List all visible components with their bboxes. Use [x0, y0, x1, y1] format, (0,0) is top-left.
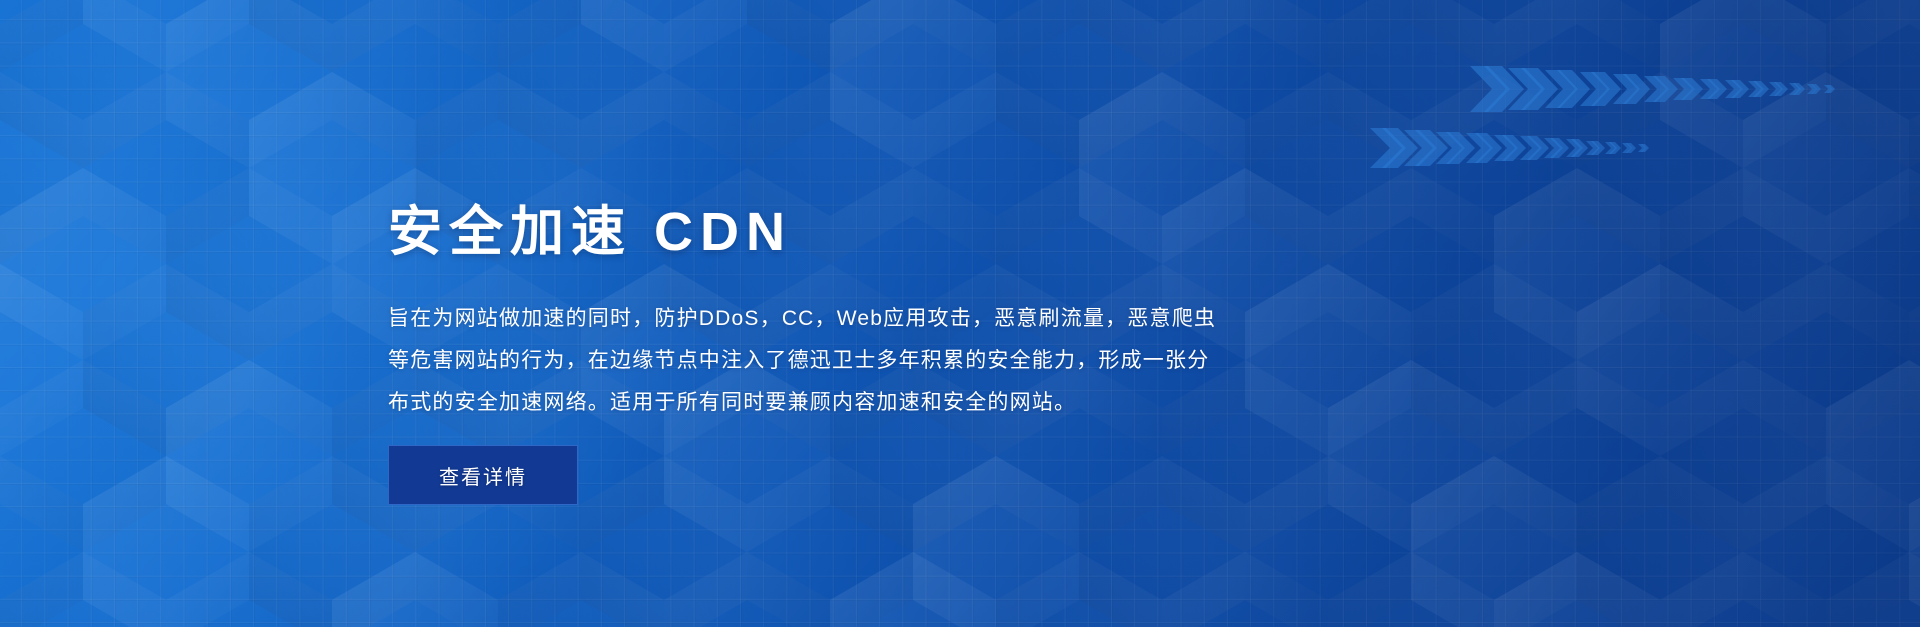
banner-content: 安全加速 CDN 旨在为网站做加速的同时，防护DDoS，CC，Web应用攻击，恶… [388, 0, 1488, 627]
description-line-2: 等危害网站的行为，在边缘节点中注入了德迅卫士多年积累的安全能力，形成一张分 [388, 340, 1458, 382]
description-line-1: 旨在为网站做加速的同时，防护DDoS，CC，Web应用攻击，恶意刷流量，恶意爬虫 [388, 298, 1458, 340]
banner-title: 安全加速 CDN [388, 205, 792, 259]
banner-description: 旨在为网站做加速的同时，防护DDoS，CC，Web应用攻击，恶意刷流量，恶意爬虫… [388, 298, 1458, 424]
chevron-arrow-row-upper [1470, 66, 1890, 112]
view-details-button[interactable]: 查看详情 [388, 445, 578, 505]
description-line-3: 布式的安全加速网络。适用于所有同时要兼顾内容加速和安全的网站。 [388, 382, 1458, 424]
cdn-hero-banner: 安全加速 CDN 旨在为网站做加速的同时，防护DDoS，CC，Web应用攻击，恶… [0, 0, 1920, 627]
